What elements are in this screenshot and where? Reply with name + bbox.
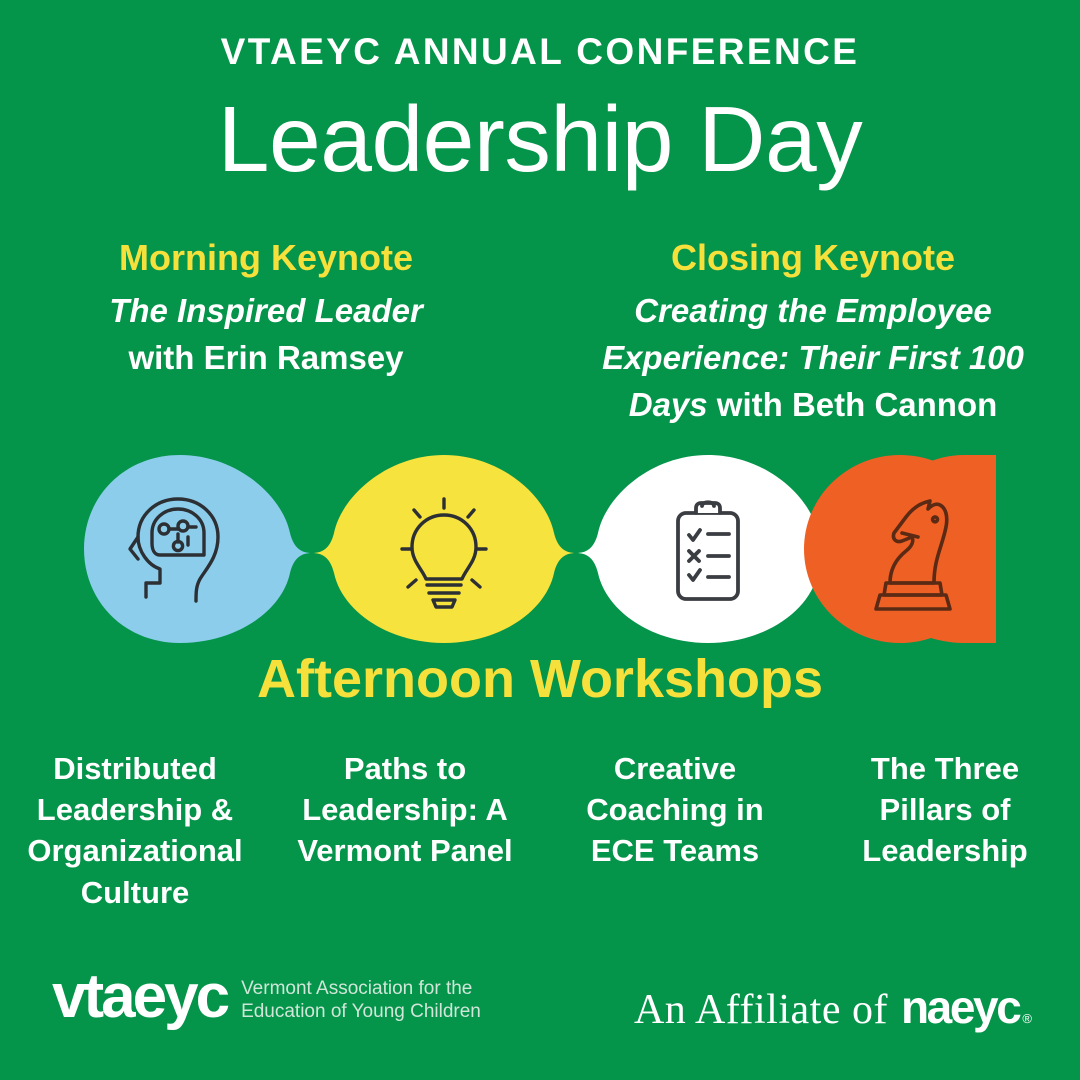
vtaeyc-logo: vtaeyc Vermont Association for the Educa… [52, 972, 481, 1023]
page-title: Leadership Day [0, 90, 1080, 189]
clipboard-blob [576, 455, 840, 643]
workshop-item: The Three Pillars of Leadership [810, 748, 1080, 913]
closing-keynote-label: Closing Keynote [580, 238, 1046, 278]
vtaeyc-wordmark: vtaeyc [52, 972, 227, 1023]
conference-eyebrow: VTAEYC ANNUAL CONFERENCE [0, 33, 1080, 70]
workshop-item: Paths to Leadership: A Vermont Panel [270, 748, 540, 913]
closing-keynote-block: Closing Keynote Creating the Employee Ex… [540, 238, 1080, 429]
lightbulb-blob [312, 455, 576, 643]
keynotes-section: Morning Keynote The Inspired Leader with… [0, 238, 1080, 429]
poster-canvas: VTAEYC ANNUAL CONFERENCE Leadership Day … [0, 0, 1080, 1080]
morning-keynote-label: Morning Keynote [38, 238, 494, 278]
vtaeyc-tagline-line-2: Education of Young Children [241, 1000, 481, 1023]
morning-keynote-title: The Inspired Leader [109, 292, 423, 329]
affiliate-prefix-text: An Affiliate of [634, 986, 888, 1034]
chain-node-2 [312, 455, 576, 643]
morning-keynote-details: The Inspired Leader with Erin Ramsey [38, 288, 494, 382]
chain-node-4 [804, 455, 996, 643]
morning-keynote-speaker: with Erin Ramsey [128, 339, 403, 376]
afternoon-workshops-heading: Afternoon Workshops [0, 652, 1080, 706]
closing-keynote-speaker: with Beth Cannon [708, 386, 998, 423]
workshop-item: Distributed Leadership & Organizational … [0, 748, 270, 913]
head-puzzle-blob [84, 455, 312, 643]
vtaeyc-tagline: Vermont Association for the Education of… [241, 972, 481, 1023]
footer: vtaeyc Vermont Association for the Educa… [0, 950, 1080, 1080]
icon-chain [84, 455, 996, 643]
chain-node-3 [576, 455, 840, 643]
workshops-list: Distributed Leadership & Organizational … [0, 748, 1080, 913]
naeyc-affiliate-logo: An Affiliate of naeyc ® [634, 980, 1032, 1034]
registered-trademark-icon: ® [1022, 1011, 1032, 1026]
chess-knight-blob-round [804, 455, 996, 643]
workshop-item: Creative Coaching in ECE Teams [540, 748, 810, 913]
naeyc-wordmark: naeyc [901, 980, 1019, 1034]
morning-keynote-block: Morning Keynote The Inspired Leader with… [0, 238, 540, 429]
chain-node-1 [84, 455, 312, 643]
vtaeyc-tagline-line-1: Vermont Association for the [241, 977, 481, 1000]
closing-keynote-details: Creating the Employee Experience: Their … [580, 288, 1046, 429]
